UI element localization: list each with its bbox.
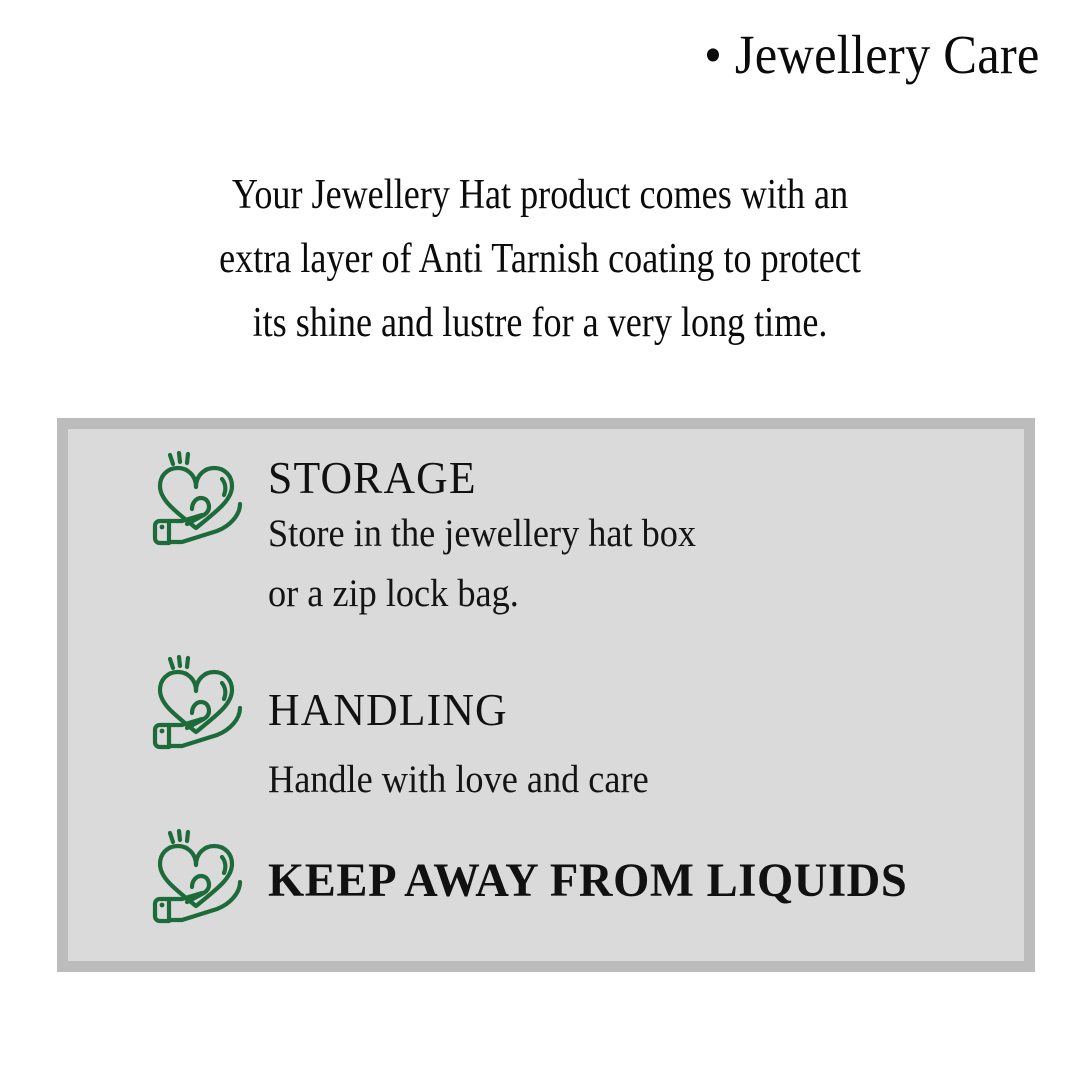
care-item-body-line-1: Handle with love and care [268, 751, 649, 809]
heart-in-hand-icon [146, 655, 246, 755]
intro-line-1: Your Jewellery Hat product comes with an [127, 163, 953, 227]
heart-in-hand-icon [146, 451, 246, 551]
care-item-heading: KEEP AWAY FROM LIQUIDS [268, 855, 907, 907]
care-item-text: HANDLING Handle with love and care [268, 655, 677, 809]
care-item-handling: HANDLING Handle with love and care [146, 655, 677, 809]
heart-in-hand-icon [146, 829, 246, 929]
intro-paragraph: Your Jewellery Hat product comes with an… [60, 163, 1020, 355]
page-header: • Jewellery Care [0, 26, 1080, 84]
care-item-body-line-2: or a zip lock bag. [268, 565, 696, 623]
intro-line-3: its shine and lustre for a very long tim… [127, 291, 953, 355]
care-item-keep-away-from-liquids: KEEP AWAY FROM LIQUIDS [146, 829, 927, 929]
care-item-heading: HANDLING [268, 685, 657, 735]
intro-line-2: extra layer of Anti Tarnish coating to p… [127, 227, 953, 291]
care-item-body-line-1: Store in the jewellery hat box [268, 505, 696, 563]
care-item-storage: STORAGE Store in the jewellery hat box o… [146, 451, 728, 623]
page-title: • Jewellery Care [705, 26, 1040, 84]
care-item-text: STORAGE Store in the jewellery hat box o… [268, 451, 728, 623]
care-item-text: KEEP AWAY FROM LIQUIDS [268, 829, 927, 907]
care-instructions-panel: STORAGE Store in the jewellery hat box o… [57, 418, 1035, 972]
care-instructions-list: STORAGE Store in the jewellery hat box o… [68, 429, 1024, 961]
care-item-heading: STORAGE [268, 453, 705, 503]
